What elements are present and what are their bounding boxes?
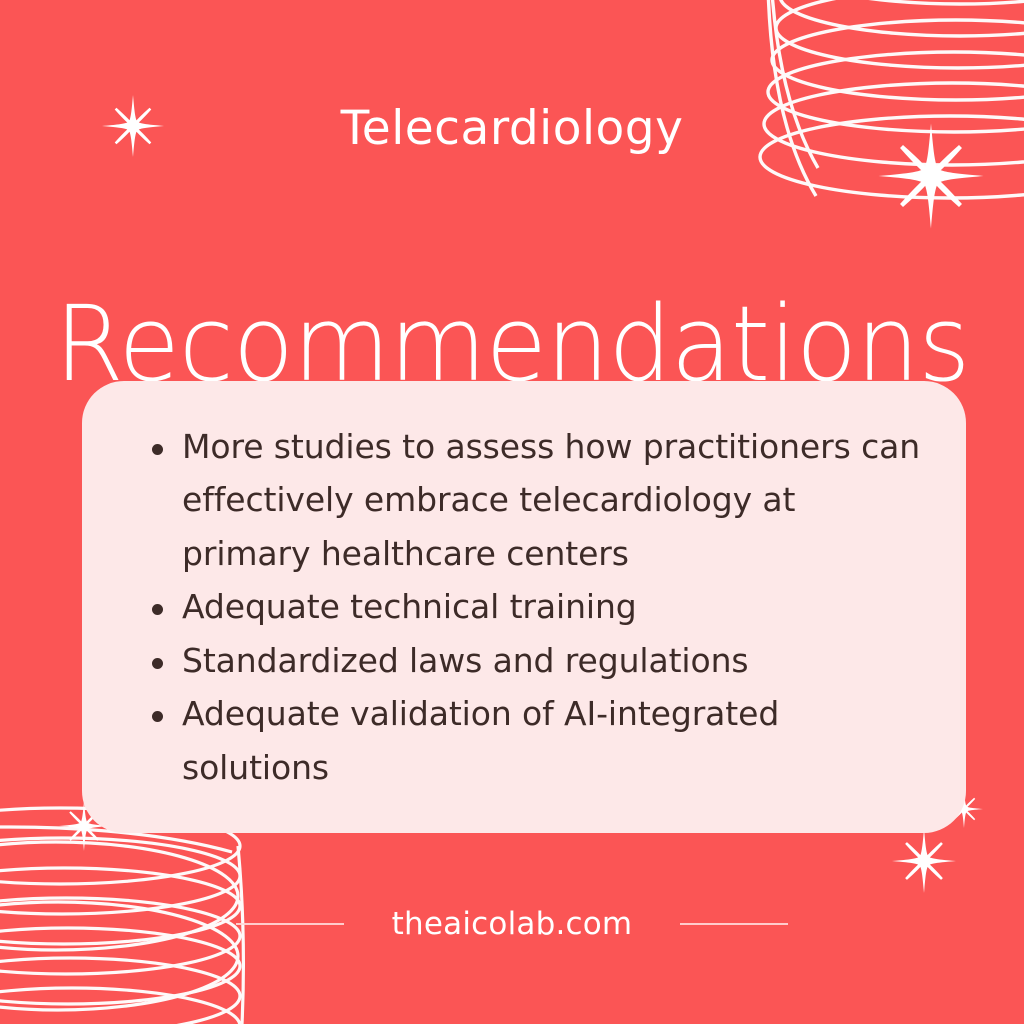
footer-website[interactable]: theaicolab.com [392, 906, 633, 942]
list-item: Standardized laws and regulations [140, 634, 926, 687]
list-item-text: Adequate technical training [182, 587, 637, 626]
eyebrow-title: Telecardiology [0, 103, 1024, 155]
sparkle-icon-bottom-right [892, 829, 956, 893]
coil-top-right-icon [760, 0, 1024, 198]
list-item: Adequate technical training [140, 580, 926, 633]
footer: theaicolab.com [0, 898, 1024, 950]
list-item: Adequate validation of AI-integrated sol… [140, 687, 926, 794]
bullet-dot-icon [152, 711, 163, 722]
bullet-dot-icon [152, 658, 163, 669]
list-item-text: More studies to assess how practitioners… [182, 427, 920, 573]
list-item: More studies to assess how practitioners… [140, 420, 926, 580]
footer-rule-right [680, 923, 788, 925]
recommendations-list: More studies to assess how practitioners… [82, 420, 966, 794]
slide-canvas: Telecardiology Recommendations More stud… [0, 0, 1024, 1024]
bullet-dot-icon [152, 444, 163, 455]
bullet-dot-icon [152, 604, 163, 615]
list-item-text: Standardized laws and regulations [182, 641, 749, 680]
footer-rule-left [236, 923, 344, 925]
list-item-text: Adequate validation of AI-integrated sol… [182, 694, 779, 786]
recommendations-card: More studies to assess how practitioners… [82, 381, 966, 833]
